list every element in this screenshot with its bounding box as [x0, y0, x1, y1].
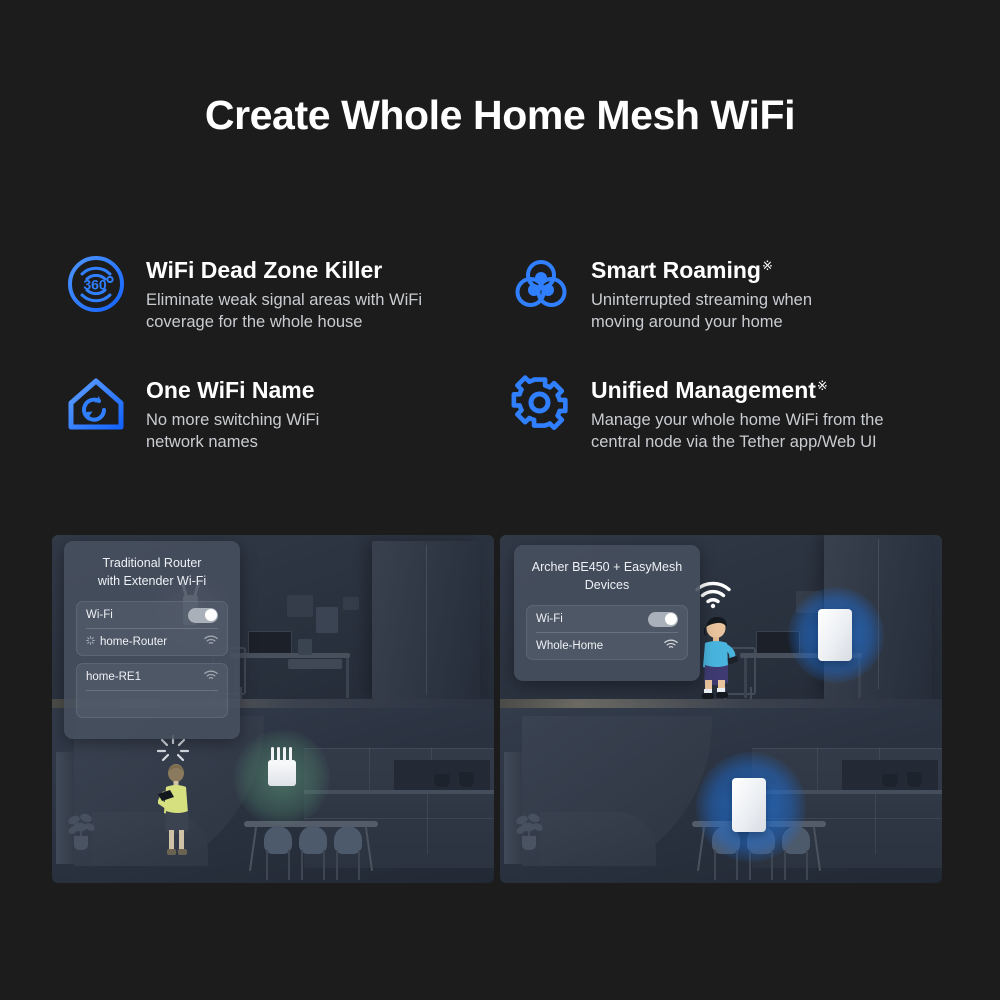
- network-row-empty: [86, 690, 218, 717]
- door-panel: [504, 752, 522, 864]
- cooking-pot: [882, 774, 898, 787]
- feature-description: Uninterrupted streaming when moving arou…: [591, 289, 812, 333]
- feature-text: One WiFi Name No more switching WiFi net…: [146, 372, 319, 453]
- desktop-router: [268, 760, 296, 786]
- door-panel: [56, 752, 74, 864]
- house-sync-icon: [66, 374, 126, 434]
- wifi-settings-card[interactable]: Archer BE450 + EasyMesh Devices Wi-Fi Wh…: [514, 545, 700, 681]
- chair-leg: [806, 850, 808, 880]
- feature-title: Smart Roaming※: [591, 252, 812, 284]
- cabinet-line: [817, 748, 818, 790]
- chair-leg: [784, 850, 786, 880]
- network-row-whole-home[interactable]: Whole-Home: [536, 632, 678, 659]
- desk-speaker: [298, 639, 312, 655]
- mesh-trefoil-icon: [511, 254, 571, 314]
- cooking-pot: [459, 772, 474, 787]
- svg-text:360: 360: [83, 277, 107, 293]
- cabinet-line: [875, 794, 876, 854]
- wifi-toggle-row[interactable]: Wi-Fi: [536, 606, 678, 632]
- feature-text: Unified Management※ Manage your whole ho…: [591, 372, 884, 453]
- feature-title-text: WiFi Dead Zone Killer: [146, 257, 382, 283]
- feature-title-text: Smart Roaming: [591, 257, 761, 283]
- wardrobe: [372, 541, 480, 699]
- chair-leg: [714, 850, 716, 880]
- wifi-label: Wi-Fi: [536, 613, 563, 625]
- feature-description: Manage your whole home WiFi from the cen…: [591, 409, 884, 453]
- wall-frame: [316, 607, 338, 633]
- wifi-toggle[interactable]: [648, 612, 678, 627]
- feature-title-text: Unified Management: [591, 377, 816, 403]
- wifi-toggle-row[interactable]: Wi-Fi: [86, 602, 218, 628]
- cabinet-line: [752, 748, 942, 749]
- plant-pot: [522, 836, 536, 850]
- strong-wifi-signal-icon: [695, 581, 731, 614]
- feature-title-text: One WiFi Name: [146, 377, 315, 403]
- chair-leg: [336, 850, 338, 880]
- feature-text: WiFi Dead Zone Killer Eliminate weak sig…: [146, 252, 422, 333]
- feature-description: No more switching WiFi network names: [146, 409, 319, 453]
- promo-page: Create Whole Home Mesh WiFi 360: [0, 0, 1000, 1000]
- woman-with-tablet: [158, 764, 194, 861]
- desk-drawer: [288, 659, 342, 669]
- wifi-label: Wi-Fi: [86, 609, 113, 621]
- desk: [230, 653, 350, 658]
- desk-leg: [346, 658, 349, 698]
- network-row-home-re1[interactable]: home-RE1: [86, 664, 218, 690]
- easymesh-panel: Archer BE450 + EasyMesh Devices Wi-Fi Wh…: [500, 535, 942, 883]
- cabinet-line: [427, 794, 428, 854]
- chair-leg: [323, 850, 325, 880]
- cabinet-line: [304, 748, 494, 749]
- wifi-group-secondary: home-RE1: [76, 663, 228, 718]
- chair-leg: [358, 850, 360, 880]
- footnote-mark: ※: [817, 378, 828, 393]
- feature-grid: 360 WiFi Dead Zone Killer Eliminate weak…: [66, 252, 956, 492]
- lower-scene: [500, 708, 942, 883]
- feature-one-wifi-name: One WiFi Name No more switching WiFi net…: [66, 372, 511, 492]
- feature-wifi-dead-zone-killer: 360 WiFi Dead Zone Killer Eliminate weak…: [66, 252, 511, 372]
- wifi-360-icon: 360: [66, 254, 126, 314]
- mesh-node: [732, 778, 766, 832]
- desk-leg: [744, 658, 747, 698]
- traditional-router-panel: Traditional Router with Extender Wi-Fi W…: [52, 535, 494, 883]
- chair-leg: [266, 850, 268, 880]
- boy-with-phone: [696, 617, 738, 706]
- connecting-spinner-icon: [86, 636, 95, 648]
- stair-base: [540, 812, 656, 866]
- mesh-node: [818, 609, 852, 661]
- network-name: home-RE1: [86, 671, 141, 683]
- network-row-home-router[interactable]: home-Router: [86, 628, 218, 655]
- antenna: [277, 747, 280, 762]
- antenna: [289, 747, 292, 762]
- chair-leg: [288, 850, 290, 880]
- plant-pot: [74, 836, 88, 850]
- feature-title: One WiFi Name: [146, 372, 319, 404]
- wifi-group-primary: Wi-Fi: [76, 601, 228, 656]
- wifi-toggle[interactable]: [188, 608, 218, 623]
- wifi-card-title: Archer BE450 + EasyMesh Devices: [526, 558, 688, 594]
- cabinet-line: [304, 818, 494, 819]
- antenna: [271, 747, 274, 762]
- floor-divider: [500, 699, 942, 708]
- cabinet-line: [369, 748, 370, 790]
- wifi-signal-icon: [204, 635, 218, 649]
- feature-text: Smart Roaming※ Uninterrupted streaming w…: [591, 252, 812, 333]
- comparison-panels: Traditional Router with Extender Wi-Fi W…: [52, 535, 942, 883]
- network-name: Whole-Home: [536, 640, 603, 652]
- antenna: [283, 747, 286, 762]
- feature-description: Eliminate weak signal areas with WiFi co…: [146, 289, 422, 333]
- chair-leg: [301, 850, 303, 880]
- wall-frame: [343, 597, 359, 610]
- feature-smart-roaming: Smart Roaming※ Uninterrupted streaming w…: [511, 252, 956, 372]
- wall-frame: [287, 595, 313, 617]
- feature-unified-management: Unified Management※ Manage your whole ho…: [511, 372, 956, 492]
- network-row-left: home-Router: [86, 636, 167, 648]
- wifi-signal-icon: [664, 639, 678, 653]
- page-title: Create Whole Home Mesh WiFi: [0, 92, 1000, 139]
- wifi-card-title: Traditional Router with Extender Wi-Fi: [76, 554, 228, 590]
- wifi-settings-card[interactable]: Traditional Router with Extender Wi-Fi W…: [64, 541, 240, 739]
- feature-title: WiFi Dead Zone Killer: [146, 252, 422, 284]
- network-name: home-Router: [100, 636, 167, 648]
- feature-title: Unified Management※: [591, 372, 884, 404]
- footnote-mark: ※: [762, 258, 773, 273]
- cooking-pot: [434, 774, 450, 787]
- counter-top: [304, 790, 494, 794]
- wifi-signal-icon: [204, 670, 218, 684]
- gear-icon: [511, 374, 571, 434]
- wifi-group-primary: Wi-Fi Whole-Home: [526, 605, 688, 660]
- cooking-pot: [907, 772, 922, 787]
